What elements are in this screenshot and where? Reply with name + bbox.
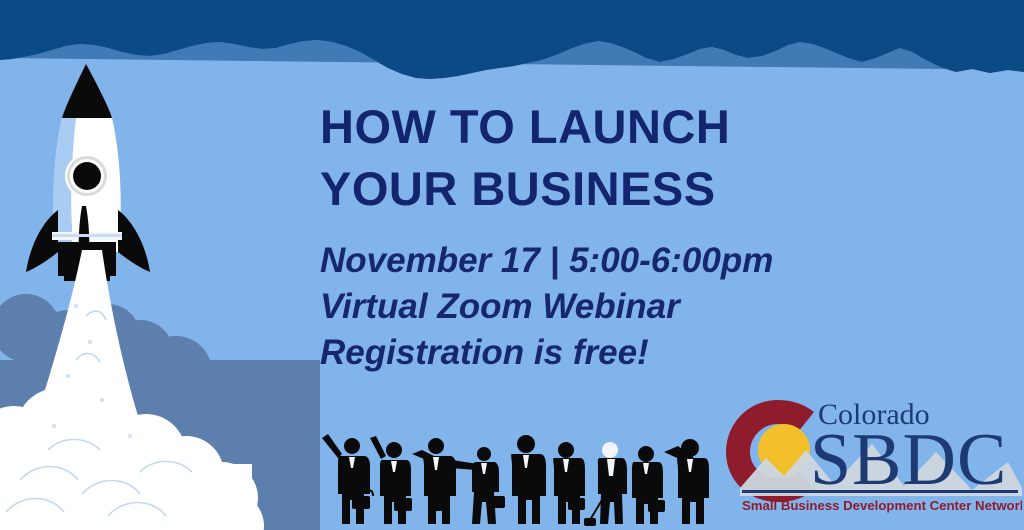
- page-title: HOW TO LAUNCH YOUR BUSINESS: [320, 96, 880, 220]
- event-details: November 17 | 5:00-6:00pm Virtual Zoom W…: [320, 238, 880, 376]
- logo-acronym: SBDC: [810, 419, 1007, 501]
- logo-tagline: Small Business Development Center Networ…: [742, 498, 1022, 513]
- event-registration-note: Registration is free!: [320, 330, 880, 376]
- event-datetime: November 17 | 5:00-6:00pm: [320, 238, 880, 284]
- headline-line-1: HOW TO LAUNCH: [320, 96, 880, 158]
- headline-line-2: YOUR BUSINESS: [320, 158, 880, 220]
- promo-poster: HOW TO LAUNCH YOUR BUSINESS November 17 …: [0, 0, 1024, 530]
- business-people-crowd-icon: [312, 424, 717, 530]
- event-format: Virtual Zoom Webinar: [320, 284, 880, 330]
- sbdc-logo: Colorado SBDC Small Business Development…: [722, 392, 1022, 516]
- smoke-plume-icon: [0, 250, 320, 530]
